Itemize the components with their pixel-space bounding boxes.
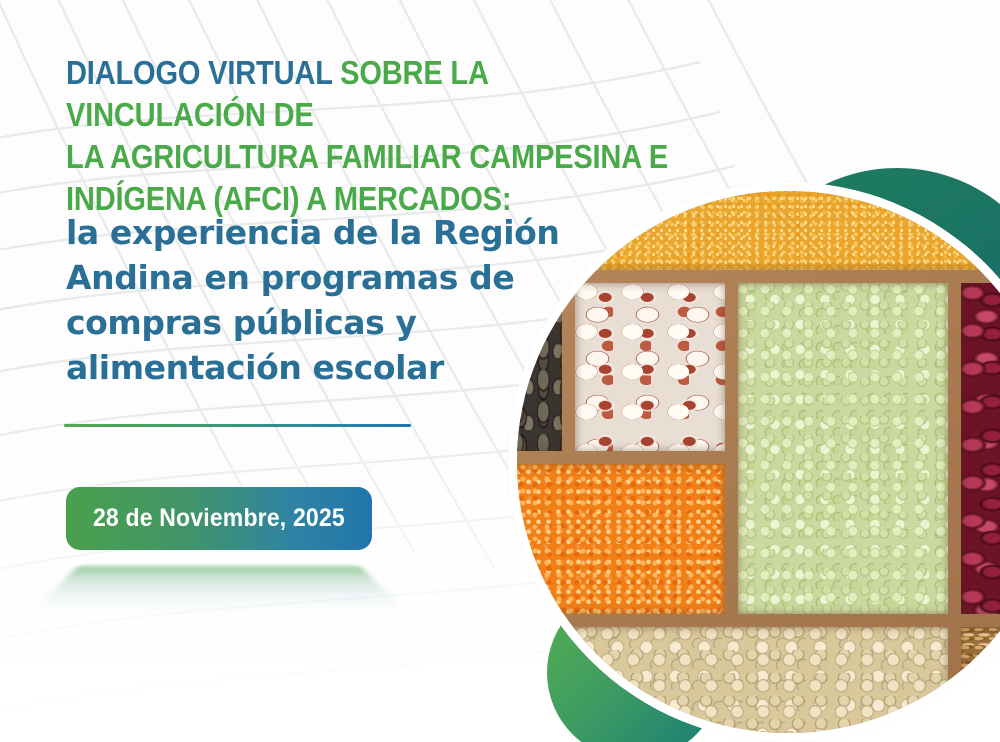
headline-highlight: DIALOGO VIRTUAL bbox=[66, 54, 332, 91]
divider bbox=[64, 424, 411, 427]
date-badge-reflection bbox=[30, 566, 408, 614]
kidney-beans-compartment bbox=[961, 283, 1000, 614]
flax-seeds-compartment bbox=[961, 627, 1000, 733]
date-badge[interactable]: 28 de Noviembre, 2025 bbox=[66, 487, 372, 550]
page-subtitle: la experiencia de la Región Andina en pr… bbox=[66, 210, 606, 390]
poster-canvas: DIALOGO VIRTUAL SOBRE LA VINCULACIÓN DE … bbox=[0, 0, 1000, 742]
date-badge-label: 28 de Noviembre, 2025 bbox=[93, 504, 345, 533]
red-lentils-compartment bbox=[517, 464, 725, 614]
split-peas-compartment bbox=[738, 283, 948, 614]
page-title: DIALOGO VIRTUAL SOBRE LA VINCULACIÓN DE … bbox=[66, 52, 682, 220]
green-lentils-compartment bbox=[575, 627, 948, 733]
poppy-seeds-compartment bbox=[517, 627, 562, 733]
